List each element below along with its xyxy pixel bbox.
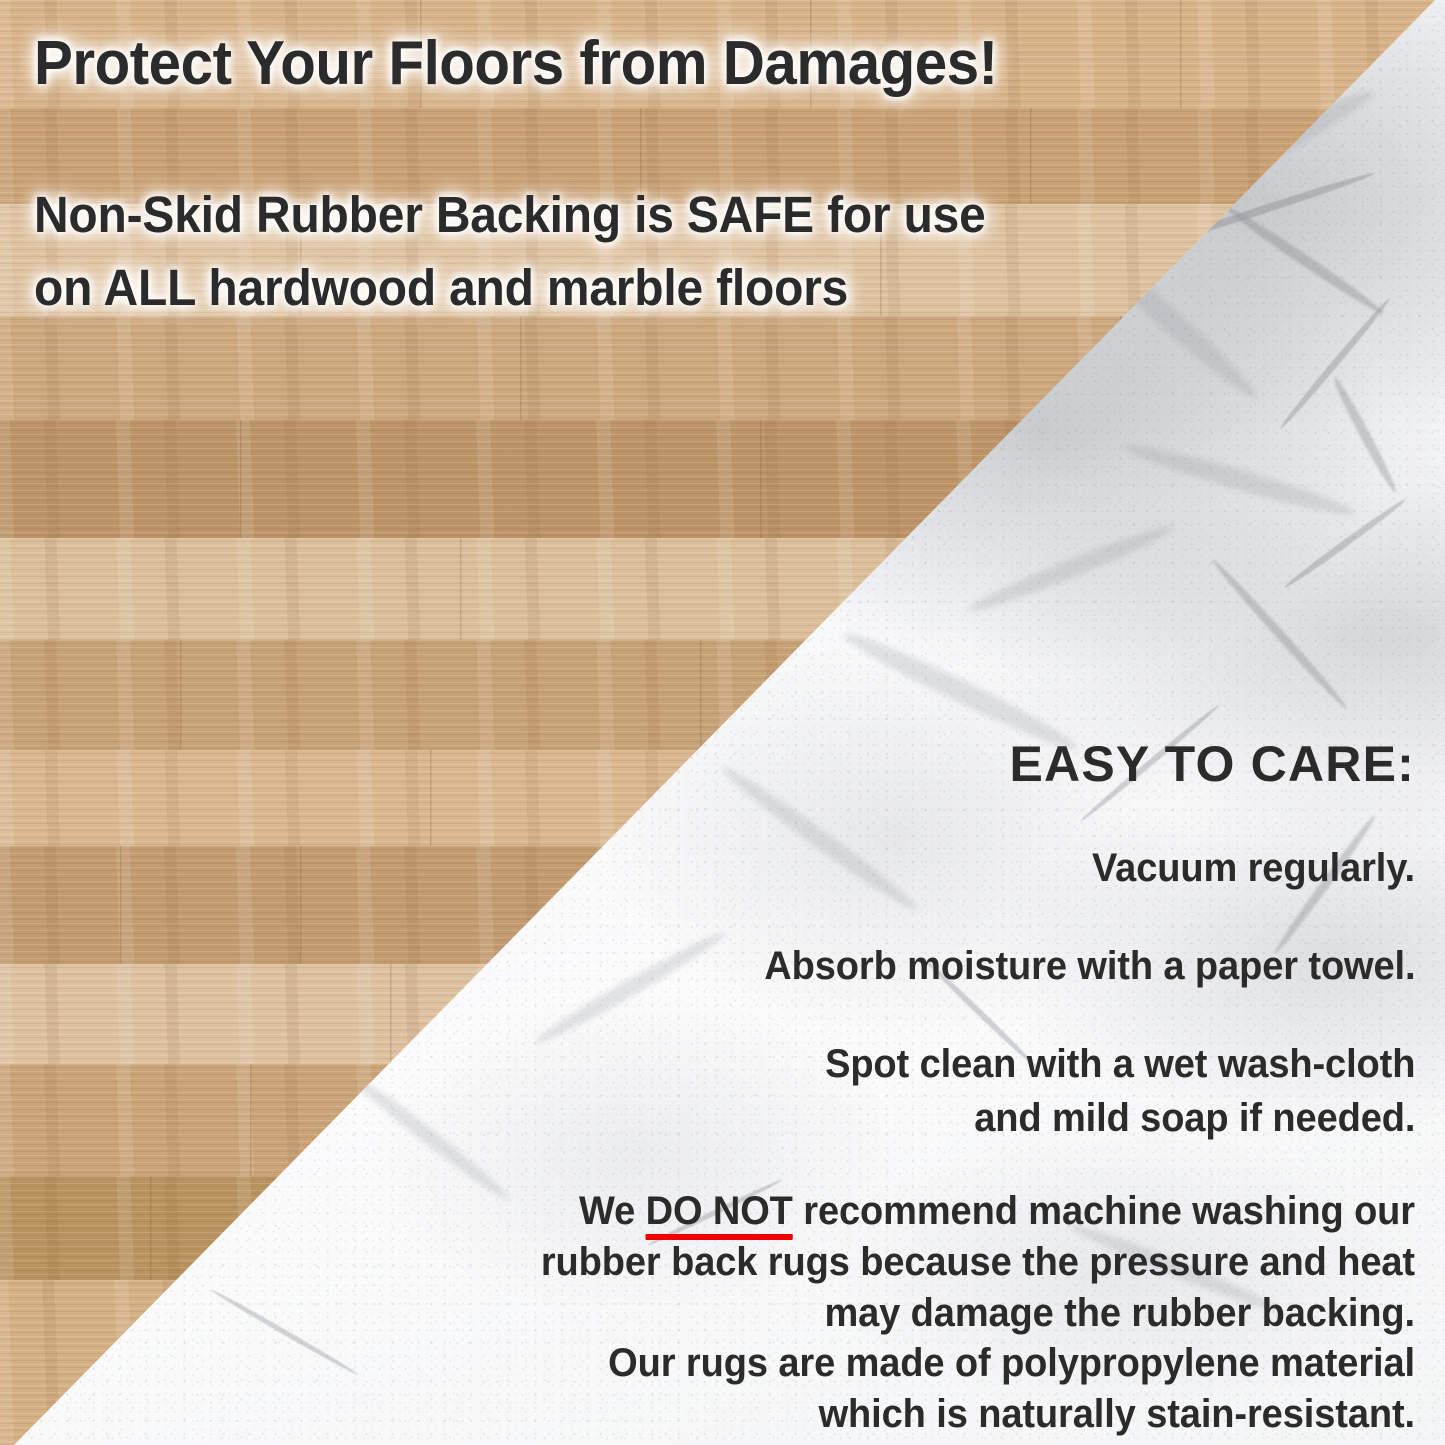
do-not-text: DO NOT <box>646 1189 793 1233</box>
wood-plank-seam <box>150 1176 152 1280</box>
page-title: Protect Your Floors from Damages! <box>34 33 1247 95</box>
subheading: Non-Skid Rubber Backing is SAFE for use … <box>34 178 1143 325</box>
wood-plank-seam <box>300 846 302 964</box>
warning-line-2: rubber back rugs because the pressure an… <box>475 1237 1416 1288</box>
warning-text-after: recommend machine washing our <box>793 1189 1415 1233</box>
infographic-canvas: Protect Your Floors from Damages! Non-Sk… <box>0 0 1445 1445</box>
wood-plank-seam <box>430 750 432 846</box>
care-instruction-absorb: Absorb moisture with a paper towel. <box>764 940 1415 994</box>
care-instruction-vacuum: Vacuum regularly. <box>1092 842 1415 896</box>
care-instruction-spot-clean: Spot clean with a wet wash-cloth and mil… <box>825 1038 1415 1145</box>
wood-plank-seam <box>460 538 462 640</box>
wood-plank-seam <box>390 964 392 1064</box>
care-instruction-line: Absorb moisture with a paper towel. <box>764 940 1415 994</box>
wood-plank-seam <box>760 420 762 538</box>
care-instruction-line: Spot clean with a wet wash-cloth <box>825 1038 1415 1092</box>
red-underline <box>646 1234 793 1240</box>
care-section-heading: EASY TO CARE: <box>1010 735 1416 793</box>
machine-wash-warning: We DO NOT recommend machine washing our … <box>475 1186 1416 1440</box>
care-instruction-line: Vacuum regularly. <box>1092 842 1415 896</box>
warning-text-before: We <box>579 1189 646 1233</box>
wood-plank-seam <box>120 846 122 964</box>
warning-line-5: which is naturally stain-resistant. <box>475 1389 1416 1440</box>
wood-plank-seam <box>700 640 702 750</box>
subheading-line-1: Non-Skid Rubber Backing is SAFE for use <box>34 178 1143 251</box>
wood-plank-seam <box>520 316 522 420</box>
wood-plank-seam <box>250 1064 252 1176</box>
subheading-line-2: on ALL hardwood and marble floors <box>34 251 1143 324</box>
warning-line-3: may damage the rubber backing. <box>475 1288 1416 1339</box>
warning-line-1: We DO NOT recommend machine washing our <box>475 1186 1416 1237</box>
do-not-emphasis: DO NOT <box>646 1189 793 1233</box>
warning-line-4: Our rugs are made of polypropylene mater… <box>475 1338 1416 1389</box>
wood-plank-seam <box>240 420 242 538</box>
care-instruction-line: and mild soap if needed. <box>825 1092 1415 1146</box>
wood-plank-seam <box>180 640 182 750</box>
